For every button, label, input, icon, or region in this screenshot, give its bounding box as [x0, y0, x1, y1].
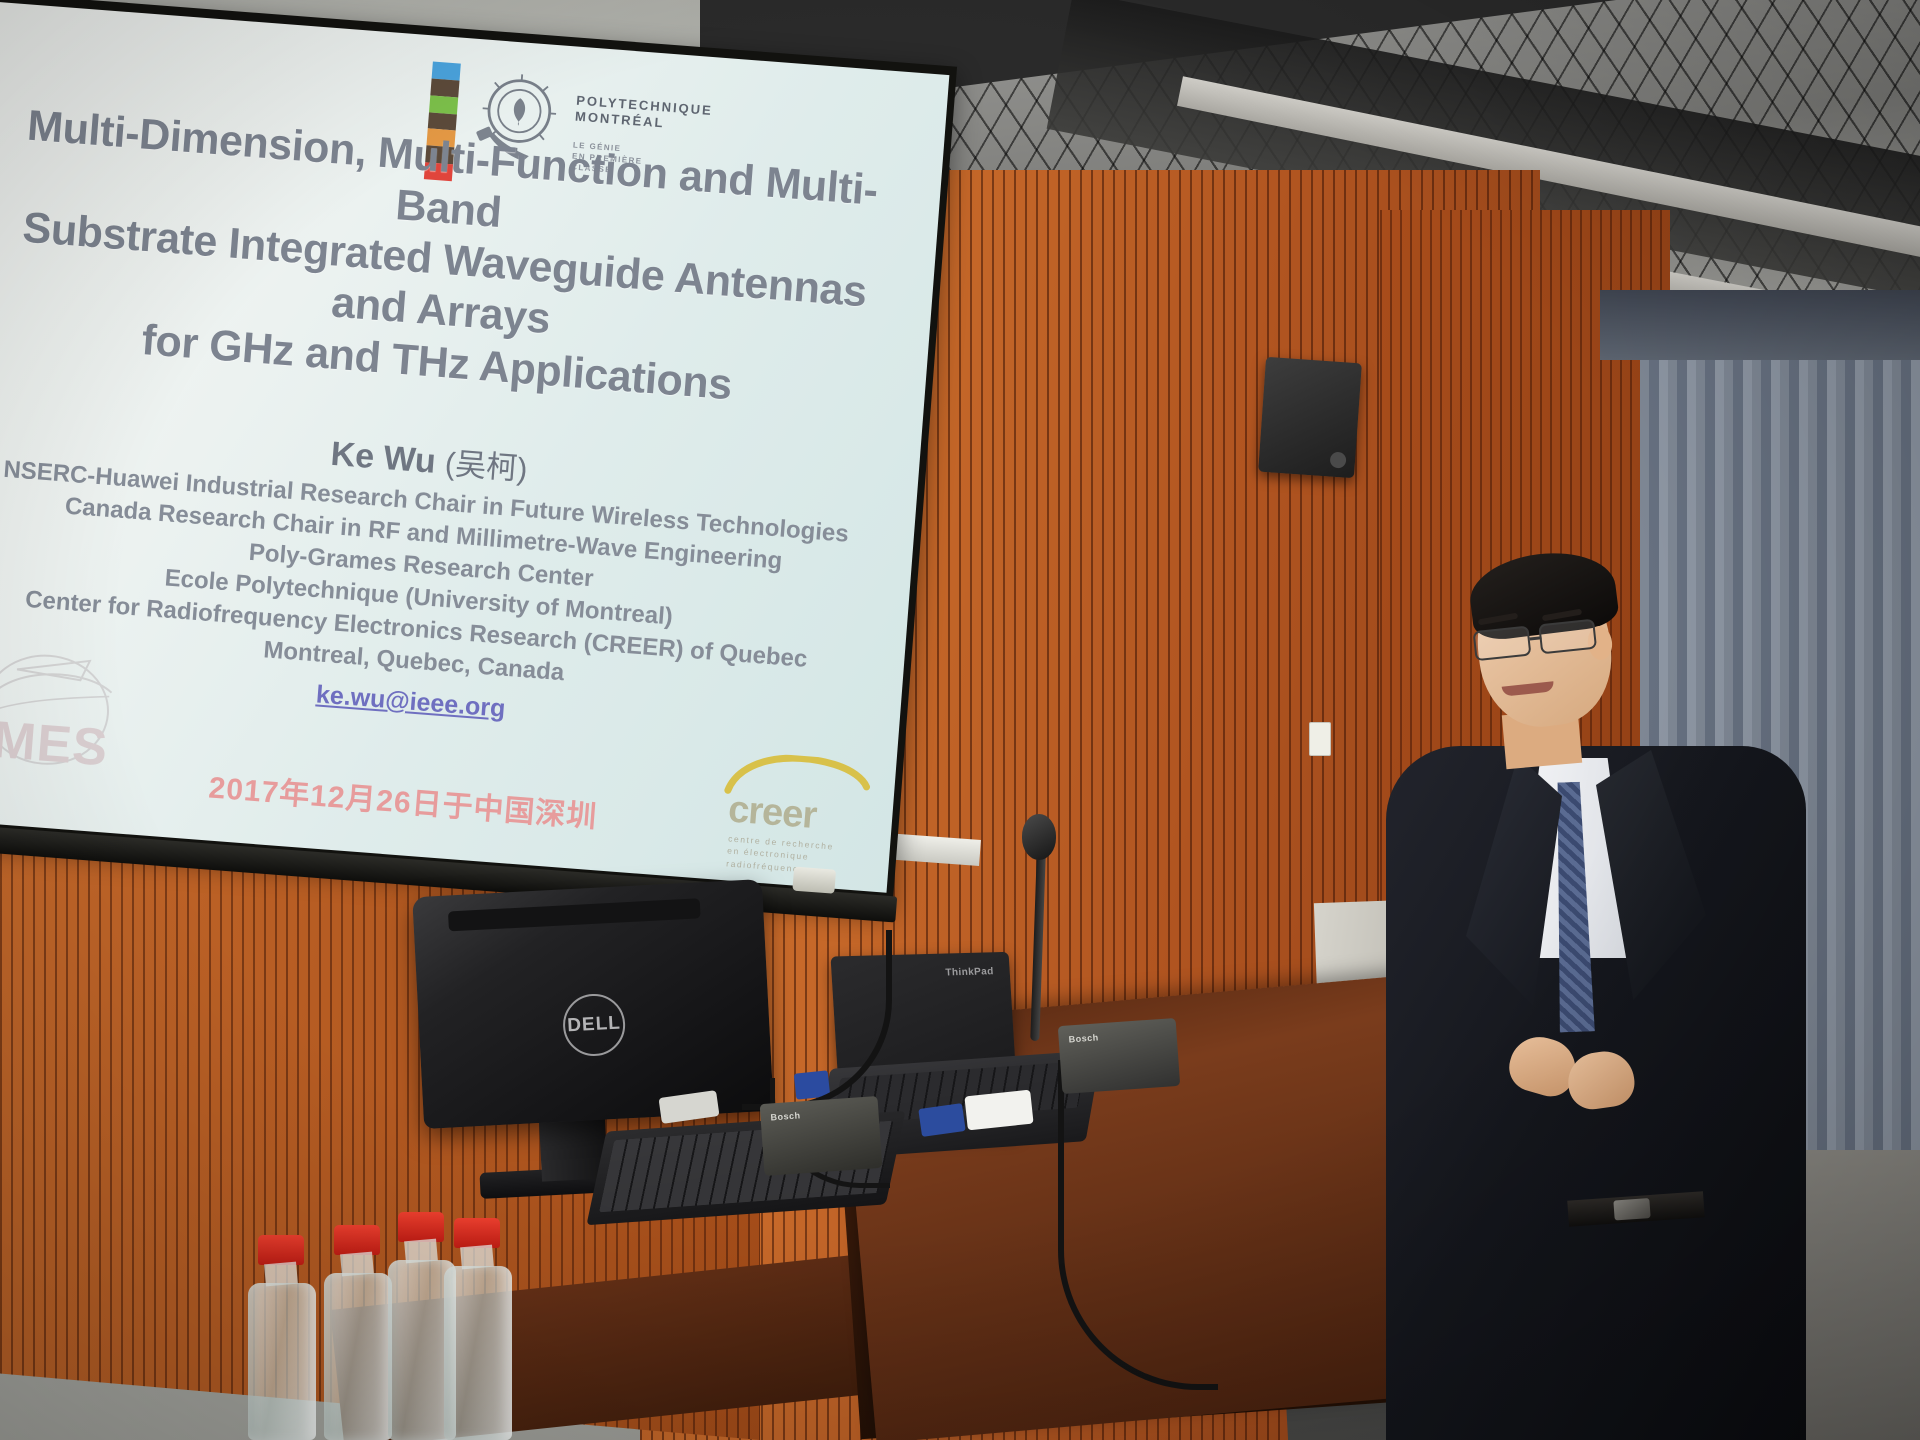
- water-bottle[interactable]: [442, 1218, 514, 1440]
- screen-frame: POLYTECHNIQUE MONTRÉAL LE GÉNIE EN PREMI…: [0, 0, 957, 909]
- bottle-body: [324, 1273, 392, 1440]
- wall-speaker: [1258, 357, 1362, 478]
- creer-wordmark: creer: [727, 788, 818, 838]
- bottle-cap: [454, 1218, 500, 1248]
- lecture-hall-photo: POLYTECHNIQUE MONTRÉAL LE GÉNIE EN PREMI…: [0, 0, 1920, 1440]
- water-bottle[interactable]: [246, 1235, 318, 1440]
- monitor-vent: [448, 898, 701, 931]
- bottle-body: [444, 1266, 512, 1440]
- microphone-brand-label: Bosch: [1068, 1032, 1099, 1044]
- dell-logo: DELL: [562, 992, 627, 1057]
- microphone-base-left[interactable]: Bosch: [760, 1096, 883, 1176]
- projected-slide: POLYTECHNIQUE MONTRÉAL LE GÉNIE EN PREMI…: [0, 0, 949, 893]
- bottle-cap: [334, 1225, 380, 1255]
- dell-monitor[interactable]: DELL: [412, 879, 774, 1129]
- bottle-body: [248, 1283, 316, 1440]
- author-name-chinese: (吴柯): [444, 446, 529, 487]
- thinkpad-logo: ThinkPad: [945, 966, 994, 978]
- microphone-head: [1022, 814, 1056, 860]
- polytechnique-name: POLYTECHNIQUE MONTRÉAL: [574, 93, 713, 136]
- bottle-cap: [398, 1212, 444, 1242]
- microphone-base-right[interactable]: Bosch: [1058, 1018, 1180, 1094]
- author-name: Ke Wu: [329, 435, 437, 481]
- creer-logo: creer centre de recherche en électroniqu…: [714, 750, 873, 881]
- monitor-rear-shell: DELL: [412, 879, 774, 1129]
- poly-grames-watermark: oly G RAMES &: [0, 635, 176, 817]
- projection-screen: POLYTECHNIQUE MONTRÉAL LE GÉNIE EN PREMI…: [0, 0, 957, 924]
- presenter: [1392, 560, 1920, 1440]
- bottle-cap: [258, 1235, 304, 1265]
- slide-title: Multi-Dimension, Multi-Function and Mult…: [0, 98, 908, 423]
- curtain-rail: [1600, 290, 1920, 360]
- water-bottle[interactable]: [322, 1225, 394, 1440]
- screen-pull-knob[interactable]: [792, 867, 836, 894]
- light-switch[interactable]: [1309, 722, 1331, 756]
- hdmi-adapter: [964, 1090, 1033, 1131]
- microphone-brand-label: Bosch: [770, 1110, 801, 1122]
